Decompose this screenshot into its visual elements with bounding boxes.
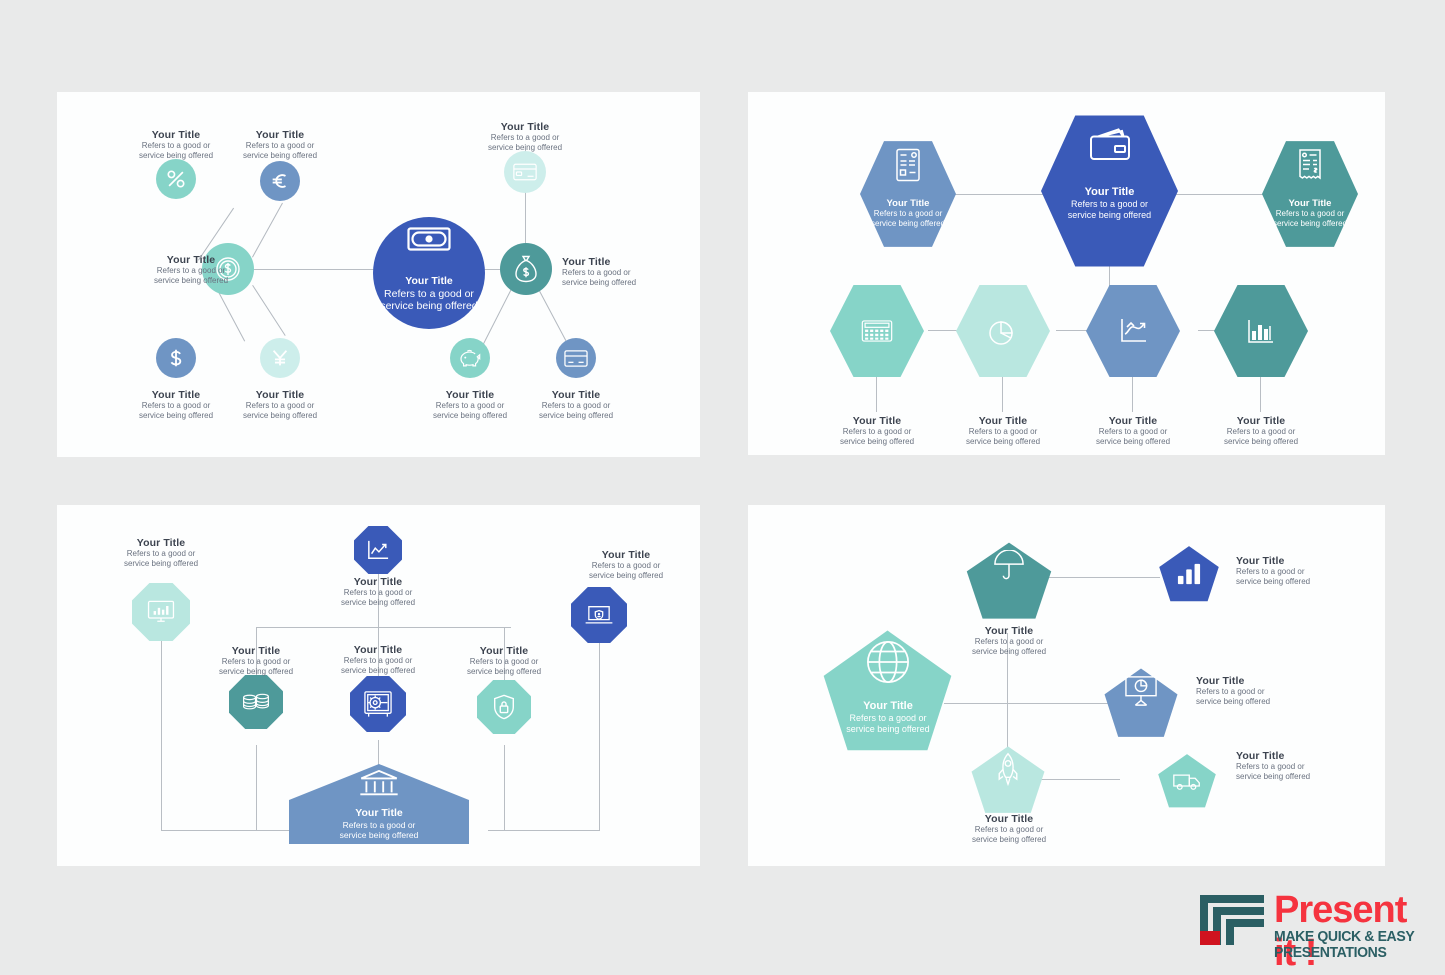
euro-icon	[260, 161, 300, 201]
node-title: Your Title	[224, 389, 336, 401]
node-bar-chart[interactable]	[1158, 545, 1220, 603]
connector-line	[944, 703, 1111, 704]
node-subtitle-line1: Refers to a good or	[953, 825, 1065, 834]
node-subtitle-line2: service being offered	[1077, 437, 1189, 446]
node-caption: Your Title Refers to a good or service b…	[414, 389, 526, 420]
node-subtitle-line2: service being offered	[953, 835, 1065, 844]
node-subtitle-line2: service being offered	[120, 411, 232, 420]
node-title: Your Title	[1205, 415, 1317, 427]
node-percent[interactable]	[156, 159, 196, 199]
node-title: Your Title	[953, 813, 1065, 825]
node-caption: Your Title Refers to a good or service b…	[120, 129, 232, 160]
node-caption: Your Title Refers to a good or service b…	[469, 121, 581, 152]
node-shield-lock[interactable]	[477, 680, 531, 734]
invoice-list-icon	[860, 132, 956, 256]
node-caption: Your Title Refers to a good or service b…	[1205, 415, 1317, 446]
node-subtitle-line1: Refers to a good or	[1236, 762, 1356, 771]
node-caption: Your Title Refers to a good or service b…	[1236, 555, 1356, 586]
node-line-chart[interactable]	[354, 526, 402, 574]
money-bag-icon	[500, 243, 552, 295]
node-caption: Your Title Refers to a good or service b…	[947, 415, 1059, 446]
credit-card-icon	[504, 151, 546, 193]
node-caption: Your Title Refers to a good or service b…	[224, 129, 336, 160]
receipt-icon	[1262, 132, 1358, 256]
node-title: Your Title	[821, 415, 933, 427]
node-bank[interactable]: Your Title Refers to a good or service b…	[289, 764, 469, 844]
connector-line	[538, 289, 568, 344]
node-subtitle-line1: Refers to a good or	[120, 401, 232, 410]
node-subtitle-line1: Refers to a good or	[224, 401, 336, 410]
node-title: Your Title	[1236, 555, 1356, 567]
node-rocket[interactable]	[970, 745, 1046, 815]
node-subtitle-line2: service being offered	[821, 437, 933, 446]
node-caption: Your Title Refers to a good or service b…	[520, 389, 632, 420]
calculator-icon	[830, 284, 924, 378]
connector-line	[256, 745, 257, 831]
node-subtitle-line2: service being offered	[200, 667, 312, 676]
node-title: Your Title	[224, 129, 336, 141]
node-credit-card-top[interactable]	[504, 151, 546, 193]
node-subtitle-line2: service being offered	[224, 151, 336, 160]
rocket-icon	[970, 738, 1046, 822]
vault-safe-icon	[350, 676, 406, 732]
connector-line	[161, 830, 289, 831]
panel-circle-hub-and-spoke: Your Title Refers to a good or service b…	[57, 92, 700, 457]
node-presentation[interactable]	[1103, 667, 1179, 739]
node-subtitle-line1: Refers to a good or	[200, 657, 312, 666]
node-subtitle-line2: service being offered	[1236, 577, 1356, 586]
connector-line	[876, 372, 877, 412]
node-caption: Your Title Refers to a good or service b…	[105, 537, 217, 568]
connector-line	[488, 830, 600, 831]
node-caption: Your Title Refers to a good or service b…	[953, 813, 1065, 844]
node-title: Your Title	[570, 549, 682, 561]
line-chart-icon	[354, 526, 402, 574]
node-title: Your Title	[448, 645, 560, 657]
node-subtitle-line1: Refers to a good or	[322, 588, 434, 597]
node-caption: Your Title Refers to a good or service b…	[224, 389, 336, 420]
node-title: Your Title	[200, 645, 312, 657]
umbrella-icon	[965, 532, 1053, 630]
node-subtitle-line1: Refers to a good or	[947, 427, 1059, 436]
node-caption: Your Title Refers to a good or service b…	[1236, 750, 1356, 781]
node-title: Your Title	[953, 625, 1065, 637]
node-subtitle-line2: service being offered	[105, 559, 217, 568]
node-subtitle-line2: service being offered	[520, 411, 632, 420]
node-umbrella[interactable]	[965, 541, 1053, 621]
node-subtitle-line2: service being offered	[562, 278, 674, 287]
node-title: Your Title	[1196, 675, 1316, 687]
node-subtitle-line1: Refers to a good or	[562, 268, 674, 277]
connector-line	[252, 285, 286, 336]
node-caption: Your Title Refers to a good or service b…	[200, 645, 312, 676]
node-caption: Your Title Refers to a good or service b…	[322, 644, 434, 675]
node-title: Your Title	[1077, 415, 1189, 427]
node-title: Your Title	[1236, 750, 1356, 762]
node-subtitle-line2: service being offered	[448, 667, 560, 676]
node-euro[interactable]	[260, 161, 300, 201]
node-database[interactable]	[229, 675, 283, 729]
delivery-van-icon	[1157, 753, 1217, 809]
node-caption: Your Title Refers to a good or service b…	[322, 576, 434, 607]
node-delivery-van[interactable]	[1157, 753, 1217, 809]
yen-icon	[260, 338, 300, 378]
node-credit-card-bottom[interactable]	[556, 338, 596, 378]
laptop-secure-icon	[571, 587, 627, 643]
node-growth-arrow[interactable]	[1086, 284, 1180, 378]
node-title: Your Title	[469, 121, 581, 133]
node-subtitle-line2: service being offered	[414, 411, 526, 420]
node-subtitle-line1: Refers to a good or	[322, 656, 434, 665]
panel-hexagon-flow: Your Title Refers to a good or service b…	[748, 92, 1385, 455]
node-title: Your Title	[947, 415, 1059, 427]
logo-mark-icon	[1196, 893, 1268, 947]
node-subtitle-line2: service being offered	[135, 276, 247, 285]
node-subtitle-line1: Refers to a good or	[224, 141, 336, 150]
node-subtitle-line2: service being offered	[1205, 437, 1317, 446]
node-caption: Your Title Refers to a good or service b…	[821, 415, 933, 446]
pie-chart-icon	[956, 284, 1050, 378]
node-subtitle-line1: Refers to a good or	[448, 657, 560, 666]
bank-icon	[289, 758, 469, 850]
node-subtitle-line2: service being offered	[953, 647, 1065, 656]
growth-arrow-icon	[1086, 284, 1180, 378]
monitor-chart-icon	[132, 583, 190, 641]
node-vault-safe[interactable]	[350, 676, 406, 732]
node-subtitle-line1: Refers to a good or	[414, 401, 526, 410]
piggy-bank-icon	[450, 338, 490, 378]
node-title: Your Title	[120, 389, 232, 401]
node-caption: Your Title Refers to a good or service b…	[448, 645, 560, 676]
node-subtitle-line1: Refers to a good or	[520, 401, 632, 410]
panel-pentagon-radial: Your Title Refers to a good or service b…	[748, 505, 1385, 866]
node-title: Your Title	[135, 254, 247, 266]
node-invoice-list[interactable]: Your Title Refers to a good or service b…	[860, 140, 956, 248]
logo-tagline: MAKE QUICK & EASY PRESENTATIONS	[1274, 929, 1423, 961]
node-caption: Your Title Refers to a good or service b…	[1196, 675, 1316, 706]
bar-chart-icon	[1214, 284, 1308, 378]
node-yen[interactable]	[260, 338, 300, 378]
percent-icon	[156, 159, 196, 199]
node-wallet[interactable]: Your Title Refers to a good or service b…	[1041, 114, 1178, 268]
node-subtitle-line2: service being offered	[1196, 697, 1316, 706]
node-dollar-sign[interactable]	[156, 338, 196, 378]
node-subtitle-line2: service being offered	[947, 437, 1059, 446]
connector-line	[504, 745, 505, 831]
node-subtitle-line2: service being offered	[570, 571, 682, 580]
node-subtitle-line1: Refers to a good or	[1236, 567, 1356, 576]
connector-line	[1132, 372, 1133, 412]
node-subtitle-line1: Refers to a good or	[105, 549, 217, 558]
node-subtitle-line1: Refers to a good or	[1205, 427, 1317, 436]
node-subtitle-line2: service being offered	[1236, 772, 1356, 781]
node-title: Your Title	[120, 129, 232, 141]
node-subtitle-line2: service being offered	[224, 411, 336, 420]
node-title: Your Title	[414, 389, 526, 401]
database-icon	[229, 675, 283, 729]
node-subtitle-line1: Refers to a good or	[570, 561, 682, 570]
connector-line	[216, 288, 245, 341]
presentation-icon	[1103, 659, 1179, 747]
node-globe[interactable]: Your Title Refers to a good or service b…	[821, 628, 954, 754]
node-subtitle-line1: Refers to a good or	[1196, 687, 1316, 696]
node-subtitle-line2: service being offered	[469, 143, 581, 152]
node-subtitle-line1: Refers to a good or	[469, 133, 581, 142]
node-caption: Your Title Refers to a good or service b…	[1077, 415, 1189, 446]
node-caption: Your Title Refers to a good or service b…	[953, 625, 1065, 656]
node-subtitle-line1: Refers to a good or	[821, 427, 933, 436]
node-caption: Your Title Refers to a good or service b…	[570, 549, 682, 580]
node-subtitle-line2: service being offered	[322, 598, 434, 607]
node-laptop-secure[interactable]	[571, 587, 627, 643]
bar-chart-icon	[1158, 545, 1220, 603]
node-caption: Your Title Refers to a good or service b…	[120, 389, 232, 420]
node-piggy-bank[interactable]	[450, 338, 490, 378]
node-money-bag[interactable]	[500, 243, 552, 295]
dollar-sign-icon	[156, 338, 196, 378]
node-bar-chart[interactable]	[1214, 284, 1308, 378]
node-monitor-chart[interactable]	[132, 583, 190, 641]
node-title: Your Title	[322, 644, 434, 656]
node-subtitle-line1: Refers to a good or	[120, 141, 232, 150]
node-title: Your Title	[562, 256, 674, 268]
connector-line	[256, 627, 511, 628]
node-subtitle-line2: service being offered	[120, 151, 232, 160]
connector-line	[252, 203, 283, 258]
node-subtitle-line1: Refers to a good or	[953, 637, 1065, 646]
connector-line	[161, 609, 162, 831]
connector-line	[483, 289, 512, 345]
panel-octagon-hierarchy: Your Title Refers to a good or service b…	[57, 505, 700, 866]
shield-lock-icon	[477, 680, 531, 734]
node-banknote-center[interactable]: Your Title Refers to a good or service b…	[373, 217, 485, 329]
connector-line	[1002, 372, 1003, 412]
banknote-icon	[373, 207, 485, 339]
node-title: Your Title	[520, 389, 632, 401]
node-calculator[interactable]	[830, 284, 924, 378]
globe-icon	[821, 617, 954, 765]
connector-line	[599, 633, 600, 831]
node-receipt[interactable]: Your Title Refers to a good or service b…	[1262, 140, 1358, 248]
connector-line	[1260, 372, 1261, 412]
node-title: Your Title	[322, 576, 434, 588]
node-pie-chart[interactable]	[956, 284, 1050, 378]
node-subtitle-line1: Refers to a good or	[135, 266, 247, 275]
node-title: Your Title	[105, 537, 217, 549]
node-subtitle-line1: Refers to a good or	[1077, 427, 1189, 436]
present-it-logo: Present it ! MAKE QUICK & EASY PRESENTAT…	[1196, 893, 1428, 951]
node-caption: Your Title Refers to a good or service b…	[135, 254, 247, 285]
node-caption: Your Title Refers to a good or service b…	[562, 256, 674, 287]
credit-card-icon	[556, 338, 596, 378]
wallet-icon	[1041, 101, 1178, 281]
node-subtitle-line2: service being offered	[322, 666, 434, 675]
